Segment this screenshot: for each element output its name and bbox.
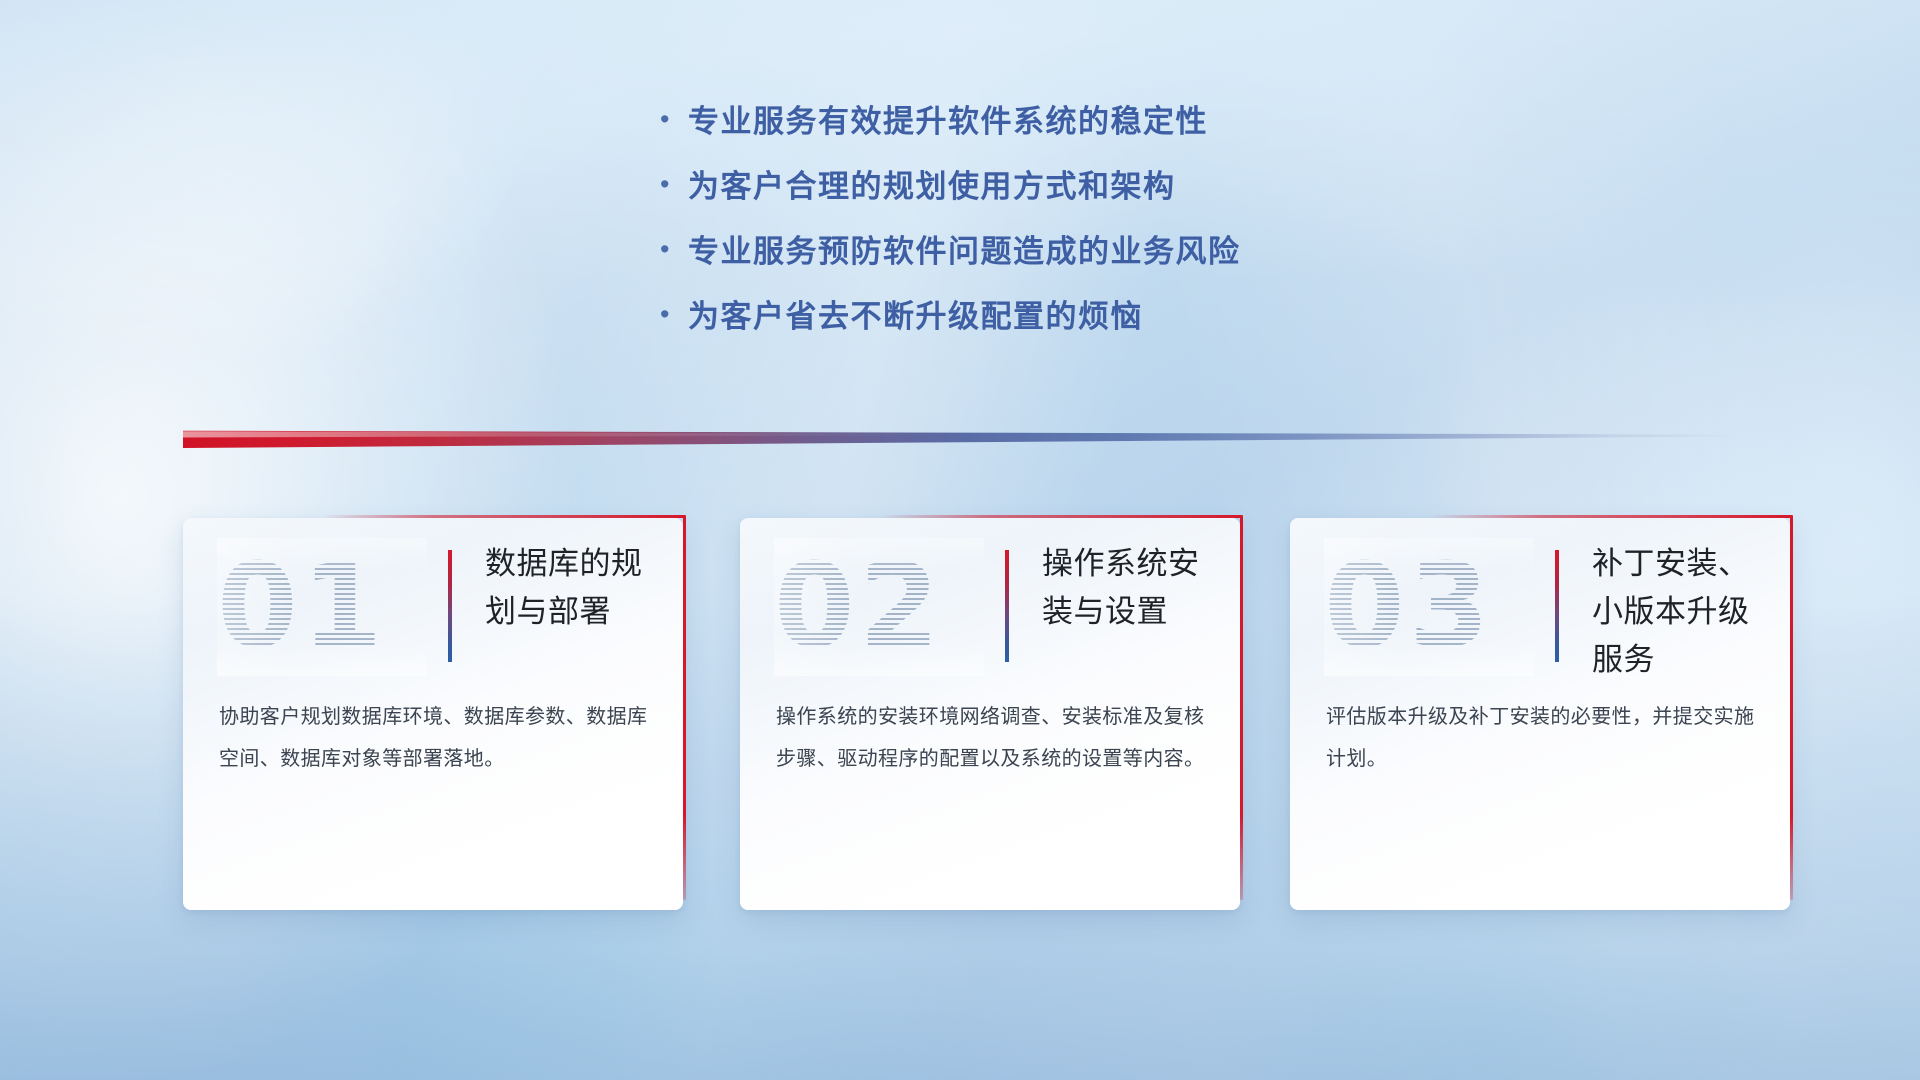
card-accent-bar — [1555, 550, 1559, 662]
service-card[interactable]: 03 补丁安装、小版本升级服务 评估版本升级及补丁安装的必要性，并提交实施计划。 — [1290, 518, 1790, 910]
bullet-item: • 专业服务有效提升软件系统的稳定性 — [660, 96, 1480, 161]
card-number-watermark: 02 — [774, 538, 984, 676]
bullet-item: • 为客户合理的规划使用方式和架构 — [660, 161, 1480, 226]
card-title: 操作系统安装与设置 — [1042, 540, 1227, 636]
bullet-label: 为客户省去不断升级配置的烦恼 — [688, 291, 1143, 336]
bullet-dot-icon: • — [660, 171, 688, 198]
card-title: 数据库的规划与部署 — [485, 540, 670, 636]
card-description: 协助客户规划数据库环境、数据库参数、数据库空间、数据库对象等部署落地。 — [219, 696, 649, 780]
benefits-bullet-list: • 专业服务有效提升软件系统的稳定性 • 为客户合理的规划使用方式和架构 • 专… — [660, 96, 1480, 356]
bullet-dot-icon: • — [660, 236, 688, 263]
bullet-label: 为客户合理的规划使用方式和架构 — [688, 161, 1176, 206]
bullet-item: • 为客户省去不断升级配置的烦恼 — [660, 291, 1480, 356]
card-number-watermark: 03 — [1324, 538, 1534, 676]
section-divider — [183, 424, 1743, 448]
service-card-group: 01 数据库的规划与部署 协助客户规划数据库环境、数据库参数、数据库空间、数据库… — [0, 518, 1920, 928]
bullet-label: 专业服务预防软件问题造成的业务风险 — [688, 226, 1241, 271]
card-accent-bar — [1005, 550, 1009, 662]
service-card-header: 03 补丁安装、小版本升级服务 — [1290, 518, 1790, 696]
service-card[interactable]: 02 操作系统安装与设置 操作系统的安装环境网络调查、安装标准及复核步骤、驱动程… — [740, 518, 1240, 910]
service-card-header: 01 数据库的规划与部署 — [183, 518, 683, 696]
card-accent-bar — [448, 550, 452, 662]
bullet-dot-icon: • — [660, 301, 688, 328]
card-number-watermark: 01 — [217, 538, 427, 676]
bullet-item: • 专业服务预防软件问题造成的业务风险 — [660, 226, 1480, 291]
service-card[interactable]: 01 数据库的规划与部署 协助客户规划数据库环境、数据库参数、数据库空间、数据库… — [183, 518, 683, 910]
service-card-header: 02 操作系统安装与设置 — [740, 518, 1240, 696]
card-description: 操作系统的安装环境网络调查、安装标准及复核步骤、驱动程序的配置以及系统的设置等内… — [776, 696, 1206, 780]
card-description: 评估版本升级及补丁安装的必要性，并提交实施计划。 — [1326, 696, 1756, 780]
bullet-dot-icon: • — [660, 106, 688, 133]
bullet-label: 专业服务有效提升软件系统的稳定性 — [688, 96, 1208, 141]
card-title: 补丁安装、小版本升级服务 — [1592, 540, 1777, 684]
